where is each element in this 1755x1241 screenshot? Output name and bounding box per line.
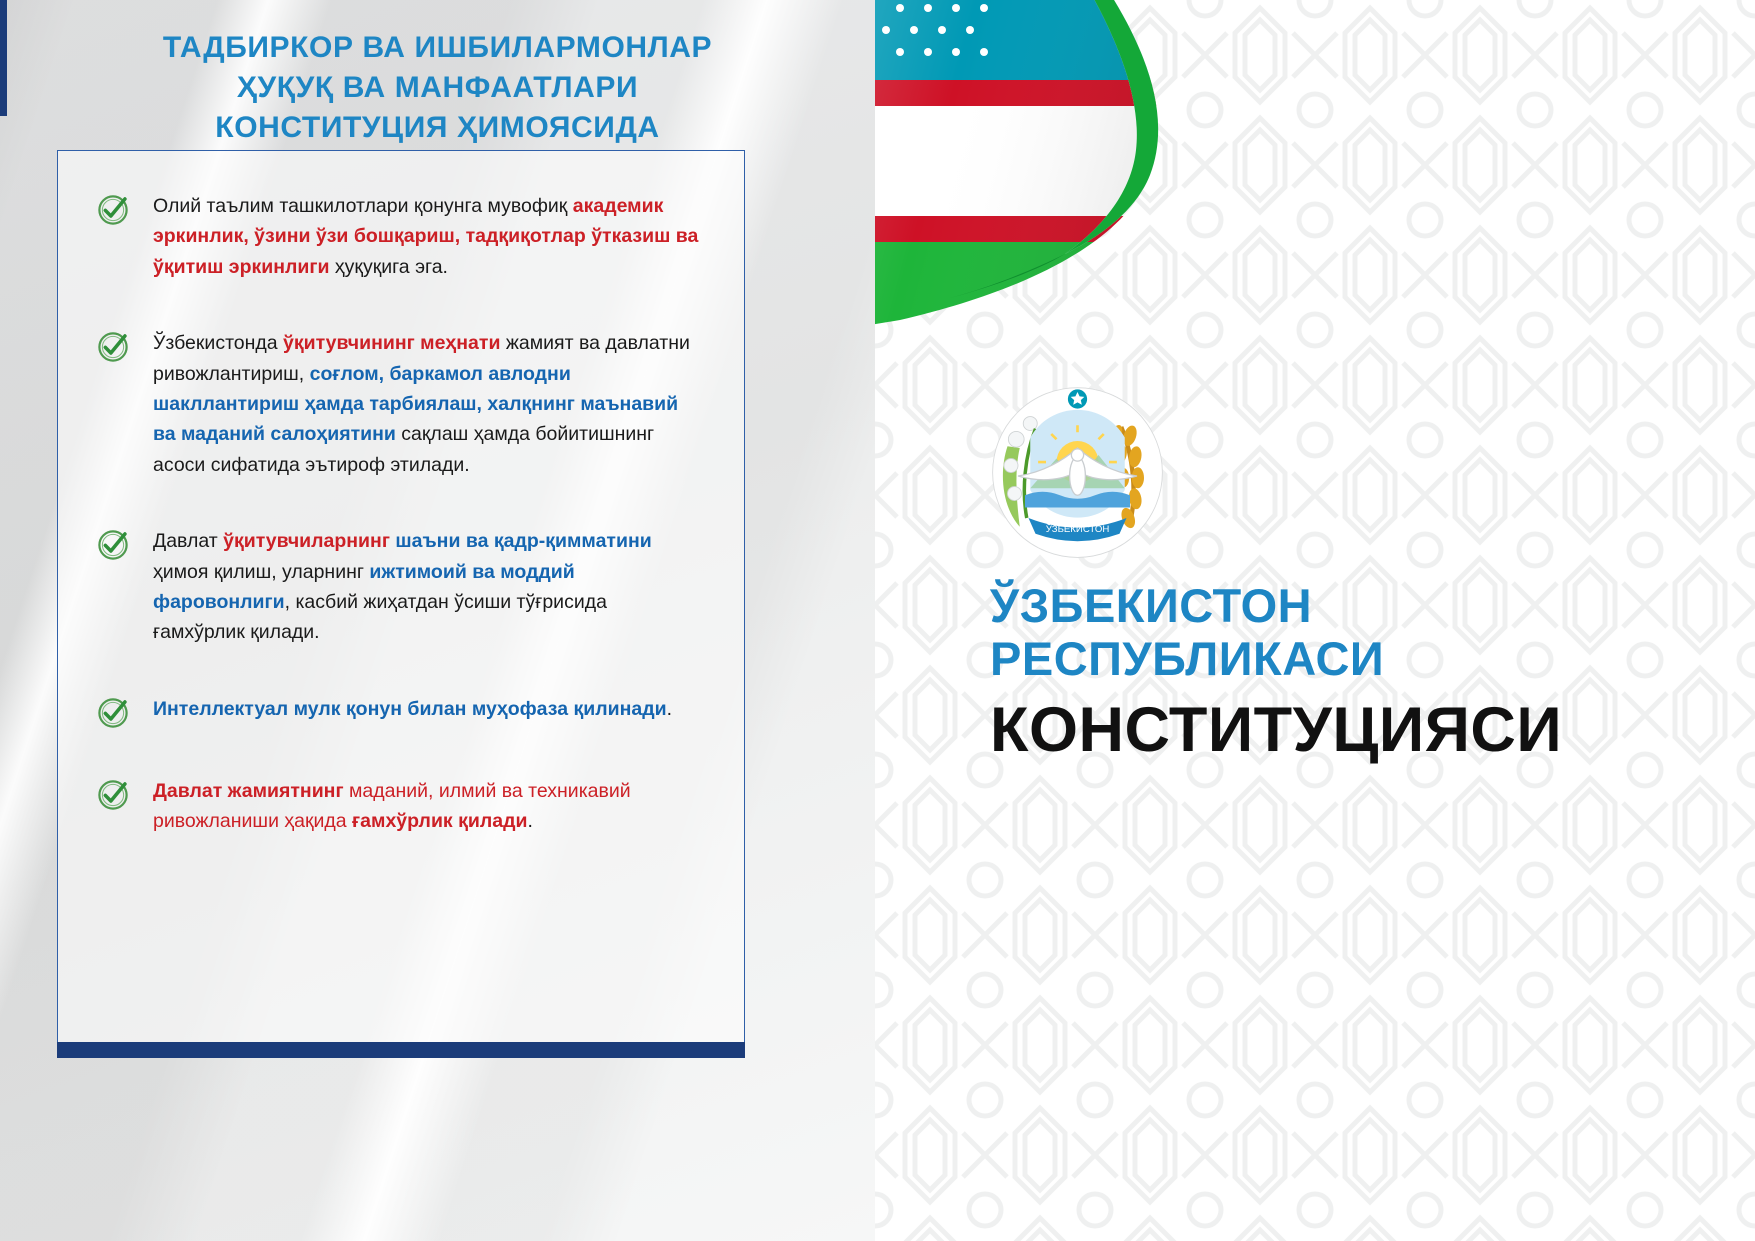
bullets-card: Олий таълим ташкилотлари қонунга мувофиқ… [57, 150, 745, 1050]
cover-title-main: КОНСТИТУЦИЯСИ [990, 693, 1710, 767]
left-content-panel: ТАДБИРКОР ВА ИШБИЛАРМОНЛАР ҲУҚУҚ ВА МАНФ… [0, 0, 875, 1241]
headline-line-3: КОНСТИТУЦИЯ ҲИМОЯСИДА [70, 108, 805, 148]
green-check-circle-icon [96, 193, 130, 227]
headline-line-2: ҲУҚУҚ ВА МАНФААТЛАРИ [70, 68, 805, 108]
bullet-3-segment-1: Давлат [153, 530, 223, 552]
green-check-circle-icon [96, 778, 130, 812]
bullet-item-5: Давлат жамиятнинг маданий, илмий ва техн… [58, 776, 746, 837]
green-check-circle-icon [96, 330, 130, 364]
bullet-item-2: Ўзбекистонда ўқитувчининг меҳнати жамият… [58, 328, 746, 480]
bullet-3-segment-3: шаъни ва қадр-қимматини [390, 530, 652, 552]
bullet-text-5: Давлат жамиятнинг маданий, илмий ва техн… [153, 776, 700, 837]
bullet-2-segment-1: Ўзбекистонда [153, 332, 283, 354]
bullet-item-3: Давлат ўқитувчиларнинг шаъни ва қадр-қим… [58, 526, 746, 648]
right-cover-panel: ЎЗБЕКИСТОН ЎЗБЕКИСТОН РЕСПУБЛИКАСИ КОНСТ… [875, 0, 1755, 1241]
bullet-item-4: Интеллектуал мулк қонун билан муҳофаза қ… [58, 694, 746, 730]
bullet-3-segment-4: ҳимоя қилиш, уларнинг [153, 561, 369, 583]
green-check-circle-icon [96, 696, 130, 730]
cover-title-block: ЎЗБЕКИСТОН РЕСПУБЛИКАСИ КОНСТИТУЦИЯСИ [990, 580, 1710, 768]
bullet-text-1: Олий таълим ташкилотлари қонунга мувофиқ… [153, 191, 700, 282]
bullet-item-1: Олий таълим ташкилотлари қонунга мувофиқ… [58, 191, 746, 282]
bullet-5-segment-3: ғамхўрлик қилади [352, 810, 527, 832]
uzbekistan-state-emblem: ЎЗБЕКИСТОН [990, 385, 1165, 560]
cover-title-line-2: РЕСПУБЛИКАСИ [990, 633, 1710, 686]
card-footer-bar [57, 1042, 745, 1058]
bullet-3-segment-2: ўқитувчиларнинг [223, 530, 390, 552]
bullet-5-segment-1: Давлат жамиятнинг [153, 780, 344, 802]
bullet-2-segment-2: ўқитувчининг меҳнати [283, 332, 500, 354]
uzbekistan-flag-ribbon [875, 0, 1340, 410]
bullet-1-segment-1: Олий таълим ташкилотлари қонунга мувофиқ [153, 195, 573, 217]
green-check-circle-icon [96, 528, 130, 562]
bullet-text-2: Ўзбекистонда ўқитувчининг меҳнати жамият… [153, 328, 700, 480]
bullet-list: Олий таълим ташкилотлари қонунга мувофиқ… [58, 151, 746, 837]
cover-title-line-1: ЎЗБЕКИСТОН [990, 580, 1710, 633]
headline-line-1: ТАДБИРКОР ВА ИШБИЛАРМОНЛАР [70, 28, 805, 68]
bullet-text-4: Интеллектуал мулк қонун билан муҳофаза қ… [153, 694, 700, 724]
page-title: ТАДБИРКОР ВА ИШБИЛАРМОНЛАР ҲУҚУҚ ВА МАНФ… [70, 28, 805, 148]
bullet-4-segment-1: Интеллектуал мулк қонун билан муҳофаза қ… [153, 698, 667, 720]
bullet-4-segment-2: . [667, 698, 672, 720]
bullet-5-segment-4: . [527, 810, 532, 832]
emblem-inscription: ЎЗБЕКИСТОН [1046, 523, 1110, 535]
bullet-text-3: Давлат ўқитувчиларнинг шаъни ва қадр-қим… [153, 526, 700, 648]
left-edge-accent-bar [0, 0, 7, 116]
bullet-1-segment-3: ҳуқуқига эга. [330, 256, 448, 278]
poster-page: ТАДБИРКОР ВА ИШБИЛАРМОНЛАР ҲУҚУҚ ВА МАНФ… [0, 0, 1755, 1241]
emblem-star [1068, 389, 1087, 408]
